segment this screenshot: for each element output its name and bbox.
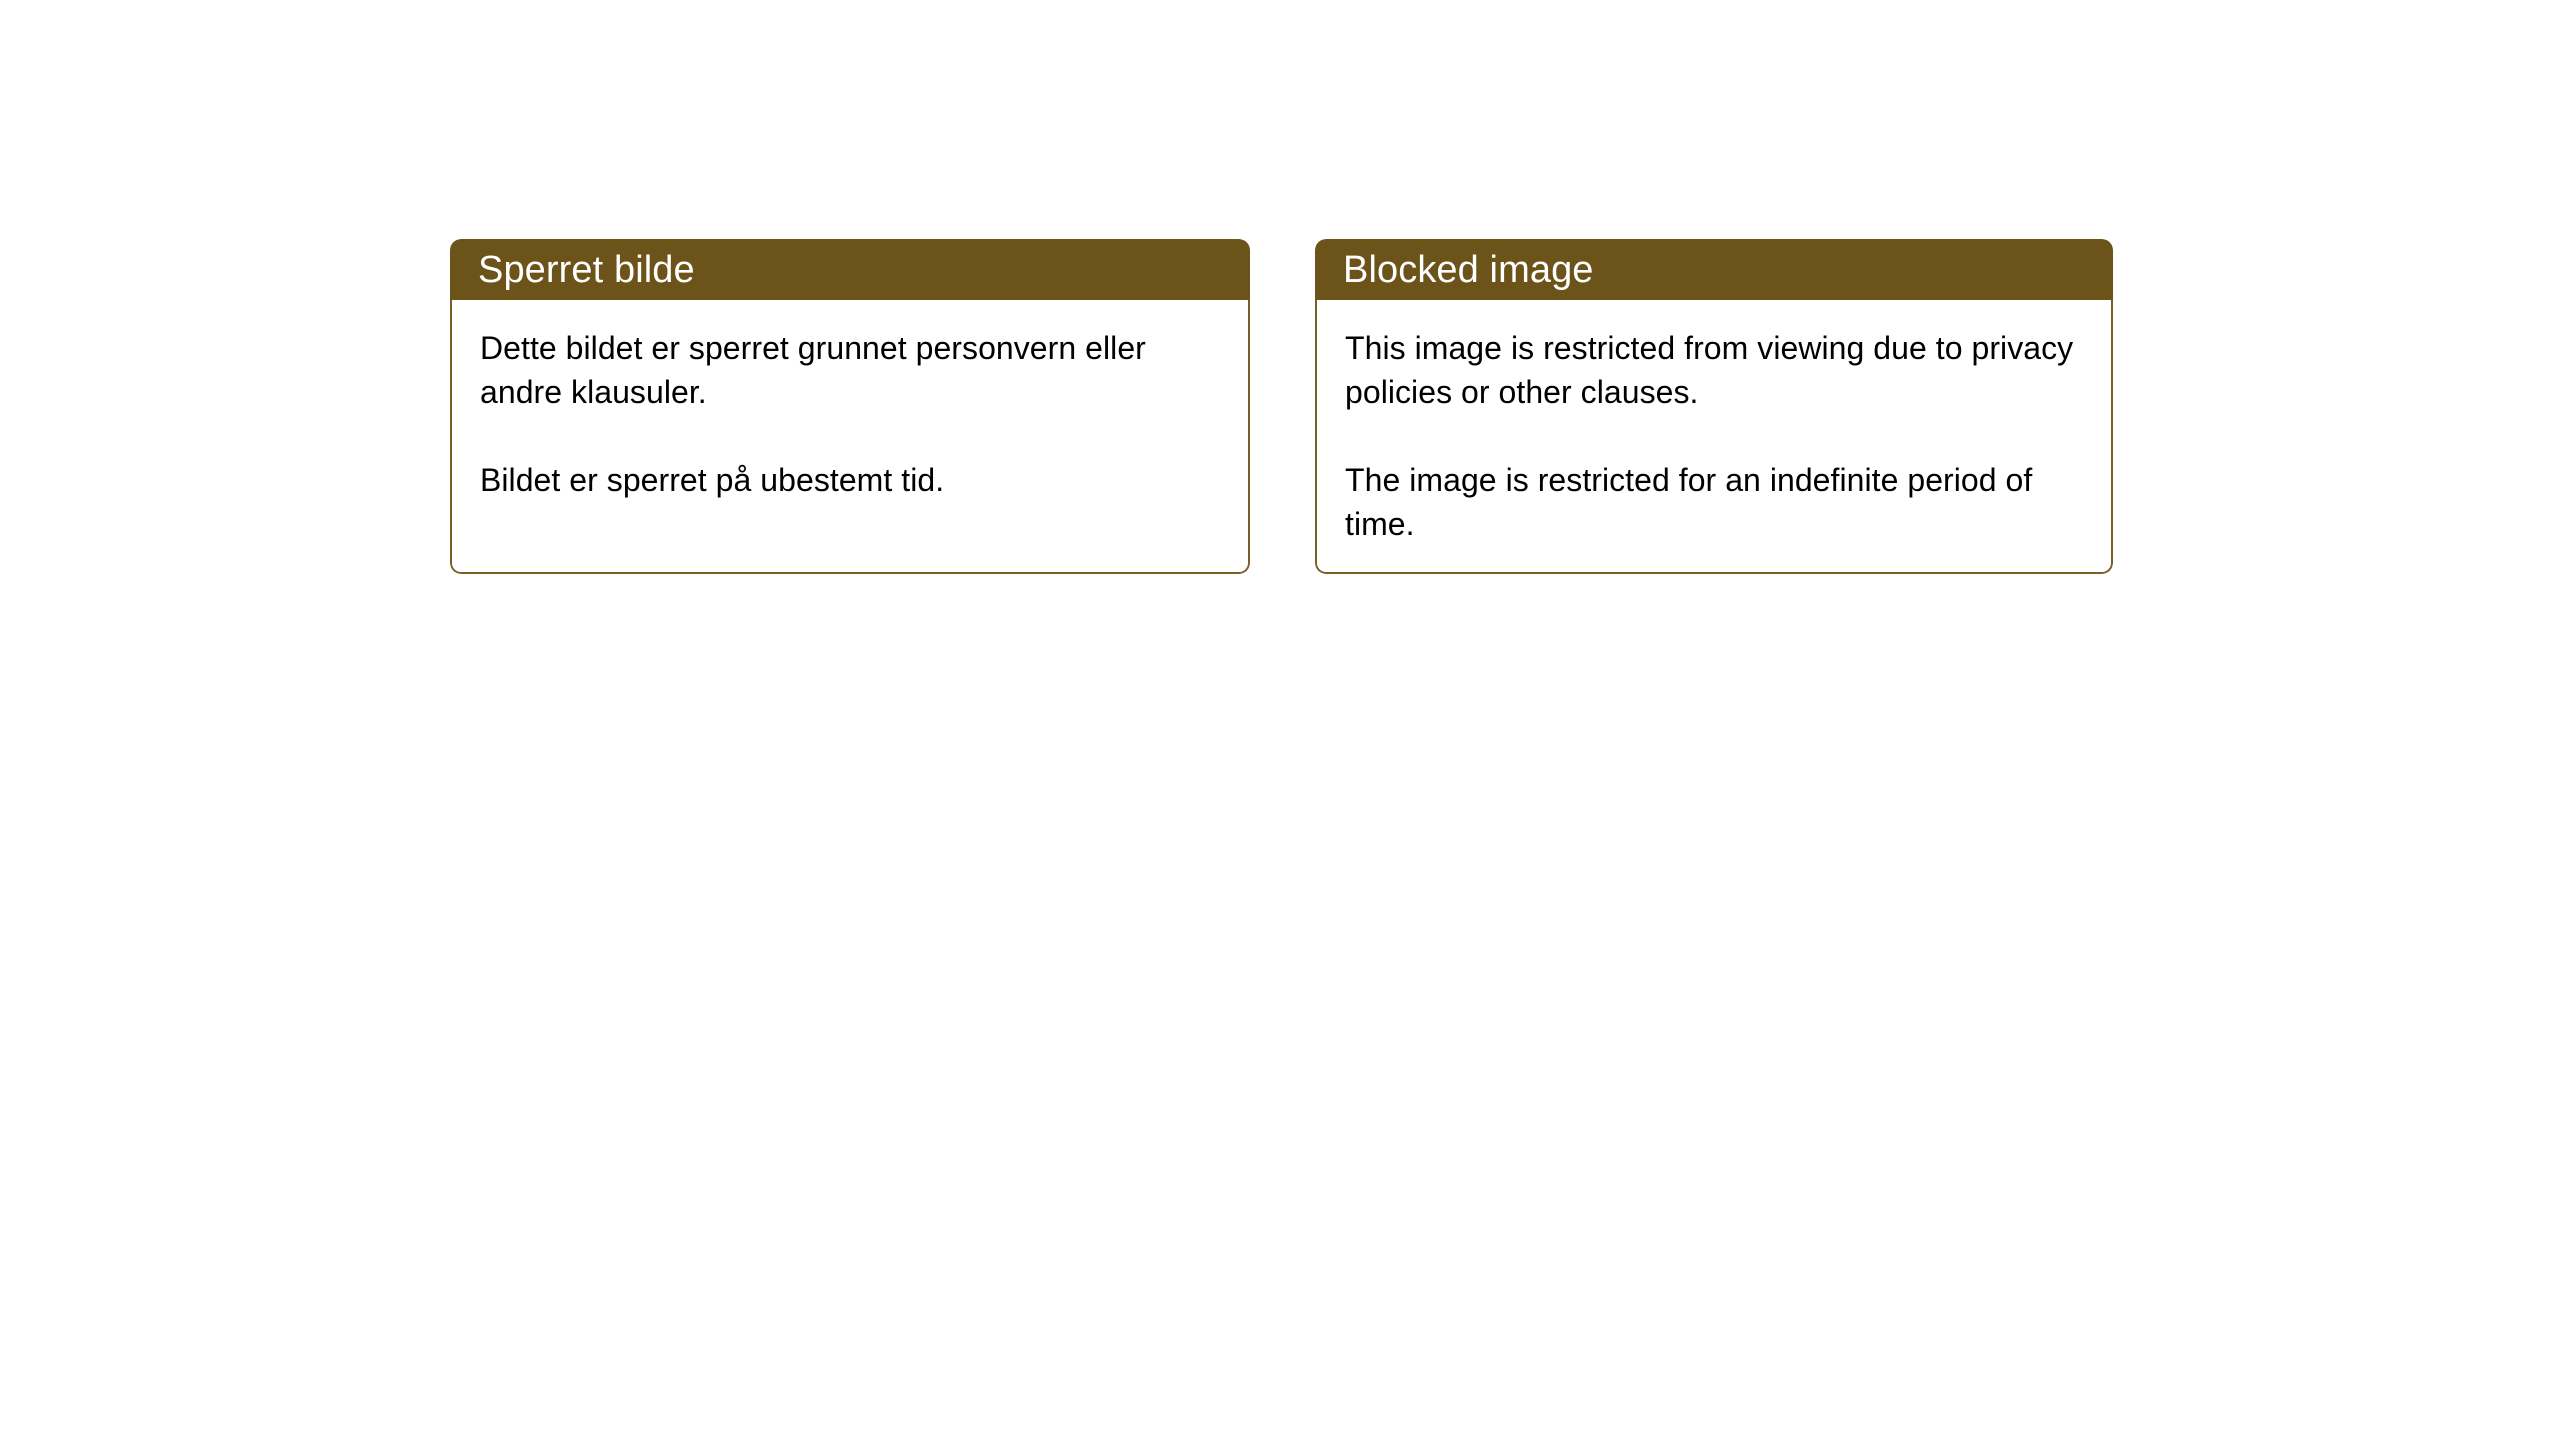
blocked-image-card-english: Blocked image This image is restricted f… bbox=[1315, 239, 2113, 574]
card-paragraph-duration-english: The image is restricted for an indefinit… bbox=[1317, 458, 2111, 546]
card-paragraph-reason-english: This image is restricted from viewing du… bbox=[1317, 326, 2111, 414]
card-header-norwegian: Sperret bilde bbox=[450, 239, 1250, 300]
card-paragraph-duration-norwegian: Bildet er sperret på ubestemt tid. bbox=[452, 458, 1222, 502]
card-body-english: This image is restricted from viewing du… bbox=[1315, 300, 2113, 574]
card-body-norwegian: Dette bildet er sperret grunnet personve… bbox=[450, 300, 1250, 574]
card-header-english: Blocked image bbox=[1315, 239, 2113, 300]
card-title-english: Blocked image bbox=[1343, 251, 1594, 289]
card-title-norwegian: Sperret bilde bbox=[478, 251, 695, 289]
page-canvas: Sperret bilde Dette bildet er sperret gr… bbox=[0, 0, 2560, 1440]
card-paragraph-reason-norwegian: Dette bildet er sperret grunnet personve… bbox=[452, 326, 1222, 414]
blocked-image-card-norwegian: Sperret bilde Dette bildet er sperret gr… bbox=[450, 239, 1250, 574]
